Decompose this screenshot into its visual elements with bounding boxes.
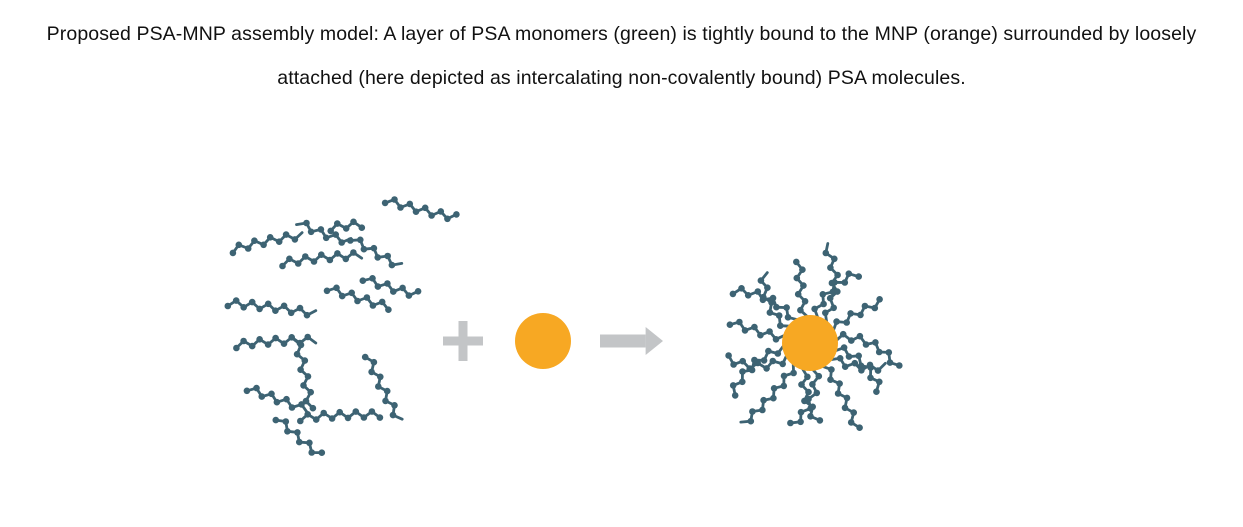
chain-node <box>391 402 398 409</box>
chain-node <box>364 294 371 301</box>
chain-node <box>415 288 422 295</box>
figure-caption: Proposed PSA-MNP assembly model: A layer… <box>34 12 1209 100</box>
chain-node <box>334 220 341 227</box>
chain-node <box>348 290 355 297</box>
chain-node <box>856 424 863 431</box>
chain-node <box>294 429 301 436</box>
chain-node <box>379 299 386 306</box>
chain-node <box>836 380 843 387</box>
psa-chain <box>382 196 460 222</box>
chain-node <box>407 201 414 208</box>
chain-node <box>730 291 737 298</box>
chain-node <box>323 235 330 242</box>
chain-node <box>274 399 281 406</box>
chain-node <box>333 285 340 292</box>
chain-node <box>857 333 864 340</box>
chain-node <box>777 322 784 329</box>
chain-node <box>785 314 792 321</box>
chain-node <box>296 439 303 446</box>
chain-node <box>295 260 302 267</box>
chain-node <box>773 304 780 311</box>
chain-node <box>828 366 835 373</box>
chain-node <box>732 392 739 399</box>
chain-node <box>798 409 805 416</box>
chain-node <box>833 318 840 325</box>
assembly-diagram-svg <box>0 160 1243 527</box>
chain-node <box>297 305 304 312</box>
chain-node <box>801 398 808 405</box>
psa-chain <box>293 339 316 412</box>
chain-node <box>384 253 391 260</box>
chain-node <box>751 357 758 364</box>
chain-node <box>382 200 389 207</box>
chain-bond-path <box>293 339 313 408</box>
chain-node <box>360 277 367 284</box>
chain-node <box>288 310 295 317</box>
chain-node <box>369 408 376 415</box>
magnetic-nanoparticle-circle <box>515 313 571 369</box>
chain-node <box>362 354 369 361</box>
chain-node <box>244 388 251 395</box>
chain-node <box>233 345 240 352</box>
chain-node <box>286 256 293 263</box>
chain-node <box>811 306 818 313</box>
psa-chain <box>244 385 308 413</box>
chain-node <box>795 291 802 298</box>
chain-node <box>230 250 237 257</box>
chain-node <box>384 388 391 395</box>
chain-node <box>240 338 247 345</box>
chain-node <box>283 396 290 403</box>
chain-node <box>307 389 314 396</box>
chain-node <box>350 249 357 256</box>
chain-node <box>887 359 894 366</box>
chain-node <box>846 353 853 360</box>
chain-node <box>281 340 288 347</box>
chain-node <box>310 405 317 412</box>
chain-node <box>896 362 903 369</box>
chain-node <box>305 373 312 380</box>
chain-node <box>371 245 378 252</box>
chain-node <box>797 419 804 426</box>
chain-node <box>384 280 391 287</box>
chain-node <box>831 256 838 263</box>
chain-node <box>804 374 811 381</box>
chain-node <box>406 292 413 299</box>
chain-node <box>390 288 397 295</box>
chain-node <box>872 339 879 346</box>
chain-node <box>359 224 366 231</box>
psa-chain <box>822 366 863 431</box>
chain-node <box>783 304 790 311</box>
chain-node <box>385 306 392 313</box>
chain-node <box>304 411 311 418</box>
chain-node <box>303 220 310 227</box>
chain-node <box>327 257 334 264</box>
arrow-shaft <box>600 335 646 348</box>
psa-chain <box>833 296 883 331</box>
chain-node <box>790 370 797 377</box>
chain-node <box>749 367 756 374</box>
chain-node <box>840 331 847 338</box>
chain-node <box>297 366 304 373</box>
chain-node <box>799 266 806 273</box>
chain-node <box>827 376 834 383</box>
chain-node <box>318 251 325 258</box>
chain-node <box>353 408 360 415</box>
plus-operator-icon <box>443 321 483 361</box>
chain-node <box>283 231 290 238</box>
chain-node <box>336 409 343 416</box>
chain-node <box>748 418 755 425</box>
chain-node <box>760 297 767 304</box>
psa-molecule-cluster <box>225 196 460 456</box>
chain-node <box>876 379 883 386</box>
chain-node <box>739 379 746 386</box>
chain-node <box>350 219 357 226</box>
chain-node <box>259 393 266 400</box>
chain-node <box>793 259 800 266</box>
psa-chain <box>730 285 798 321</box>
chain-node <box>727 321 734 328</box>
chain-node <box>766 328 773 335</box>
chain-node <box>281 303 288 310</box>
psa-chain <box>793 259 808 317</box>
chain-node <box>781 383 788 390</box>
chain-node <box>842 363 849 370</box>
chain-node <box>787 420 794 427</box>
chain-node <box>302 253 309 260</box>
chain-node <box>867 362 874 369</box>
chain-node <box>304 312 311 319</box>
chain-node <box>809 404 816 411</box>
psa-chain <box>225 297 316 318</box>
chain-node <box>444 216 451 223</box>
chain-node <box>289 404 296 411</box>
chain-node <box>267 234 274 241</box>
chain-node <box>272 307 279 314</box>
chain-node <box>377 414 384 421</box>
chain-node <box>844 395 851 402</box>
chain-node <box>361 414 368 421</box>
chain-node <box>354 298 361 305</box>
chain-node <box>370 302 377 309</box>
chain-node <box>779 361 786 368</box>
chain-node <box>272 335 279 342</box>
chain-node <box>389 262 396 269</box>
chain-node <box>862 303 869 310</box>
chain-node <box>809 381 816 388</box>
chain-node <box>256 306 263 313</box>
chain-node <box>324 288 331 295</box>
chain-node <box>842 405 849 412</box>
chain-node <box>245 245 252 252</box>
chain-node <box>369 275 376 282</box>
chain-node <box>745 292 752 299</box>
chain-node <box>343 225 350 232</box>
chain-node <box>736 319 743 326</box>
chain-node <box>822 310 829 317</box>
chain-node <box>759 407 766 414</box>
chain-node <box>265 301 272 308</box>
chain-node <box>308 449 315 456</box>
chain-node <box>738 285 745 292</box>
chain-node <box>725 352 732 359</box>
chain-node <box>755 288 762 295</box>
chain-node <box>805 389 812 396</box>
chain-node <box>294 351 301 358</box>
chain-node <box>855 273 862 280</box>
chain-node <box>835 390 842 397</box>
chain-node <box>347 237 354 244</box>
chain-node <box>773 336 780 343</box>
chain-node <box>730 382 737 389</box>
psa-chain <box>297 408 383 424</box>
chain-node <box>872 305 879 312</box>
chain-node <box>749 408 756 415</box>
chain-node <box>848 337 855 344</box>
chain-node <box>820 291 827 298</box>
chain-node <box>827 264 834 271</box>
psa-chain <box>741 363 797 424</box>
chain-node <box>319 449 326 456</box>
chain-node <box>857 312 864 319</box>
chain-node <box>298 342 305 349</box>
chain-node <box>820 301 827 308</box>
arrow-operator-icon <box>600 327 663 355</box>
chain-node <box>276 238 283 245</box>
chain-node <box>334 250 341 257</box>
chain-node <box>236 242 243 249</box>
chain-node <box>320 410 327 417</box>
chain-node <box>834 272 841 279</box>
chain-node <box>313 416 320 423</box>
chain-node <box>886 349 893 356</box>
chain-node <box>767 309 774 316</box>
chain-node <box>798 381 805 388</box>
chain-node <box>327 228 334 235</box>
chain-node <box>855 353 862 360</box>
chain-node <box>776 312 783 319</box>
psa-mnp-assembly <box>725 244 902 432</box>
chain-bond-path <box>350 240 402 265</box>
arrow-head <box>646 327 663 355</box>
chain-node <box>848 419 855 426</box>
chain-node <box>345 415 352 422</box>
chain-node <box>816 373 823 380</box>
chain-node <box>742 327 749 334</box>
chain-node <box>265 341 272 348</box>
assembly-diagram <box>0 160 1243 527</box>
psa-chain <box>230 231 303 256</box>
chain-node <box>775 350 782 357</box>
chain-node <box>284 428 291 435</box>
chain-node <box>240 304 247 311</box>
chain-node <box>771 385 778 392</box>
chain-bond-path <box>822 366 860 428</box>
psa-chain <box>327 219 365 235</box>
chain-node <box>842 279 849 286</box>
chain-node <box>867 375 874 382</box>
chain-node <box>770 358 777 365</box>
chain-node <box>268 391 275 398</box>
chain-node <box>283 418 290 425</box>
psa-chain <box>279 249 362 269</box>
chain-node <box>260 242 267 249</box>
chain-node <box>770 395 777 402</box>
chain-node <box>302 357 309 364</box>
chain-node <box>339 293 346 300</box>
chain-node <box>377 374 384 381</box>
chain-node <box>329 415 336 422</box>
chain-node <box>453 211 460 218</box>
chain-node <box>249 299 256 306</box>
chain-node <box>760 397 767 404</box>
chain-node <box>802 298 809 305</box>
chain-node <box>279 263 286 270</box>
chain-node <box>428 212 435 219</box>
psa-chain <box>233 334 316 352</box>
chain-node <box>834 288 841 295</box>
chain-node <box>739 368 746 375</box>
chain-node <box>292 236 299 243</box>
chain-node <box>800 282 807 289</box>
chain-node <box>374 254 381 261</box>
chain-node <box>817 417 824 424</box>
chain-node <box>843 319 850 326</box>
chain-node <box>225 303 232 310</box>
chain-node <box>304 334 311 341</box>
chain-node <box>300 382 307 389</box>
chain-node <box>382 398 389 405</box>
chain-node <box>827 295 834 302</box>
chain-node <box>438 208 445 215</box>
chain-node <box>297 418 304 425</box>
figure-page: Proposed PSA-MNP assembly model: A layer… <box>0 0 1243 527</box>
chain-node <box>814 390 821 397</box>
chain-node <box>763 365 770 372</box>
chain-node <box>413 208 420 215</box>
chain-node <box>847 310 854 317</box>
psa-chain <box>727 319 785 343</box>
chain-node <box>399 285 406 292</box>
chain-node <box>757 332 764 339</box>
chain-node <box>852 360 859 367</box>
chain-node <box>361 246 368 253</box>
chain-node <box>306 440 313 447</box>
chain-node <box>829 280 836 287</box>
chain-node <box>876 296 883 303</box>
chain-node <box>251 237 258 244</box>
chain-node <box>876 349 883 356</box>
chain-node <box>318 226 325 233</box>
chain-node <box>758 277 765 284</box>
chain-bond-path <box>276 420 322 453</box>
chain-node <box>837 355 844 362</box>
psa-chain <box>297 220 352 246</box>
chain-node <box>253 385 260 392</box>
chain-bond-path <box>833 299 879 331</box>
chain-node <box>233 297 240 304</box>
chain-node <box>875 367 882 374</box>
chain-node <box>308 229 315 236</box>
chain-node <box>371 359 378 366</box>
plus-vertical-bar <box>459 321 468 361</box>
chain-node <box>375 283 382 290</box>
chain-node <box>807 413 814 420</box>
chain-node <box>368 369 375 376</box>
chain-node <box>873 388 880 395</box>
chain-node <box>739 358 746 365</box>
chain-node <box>391 196 398 203</box>
assembly-core-nanoparticle <box>782 315 838 371</box>
chain-node <box>357 237 364 244</box>
chain-node <box>764 284 771 291</box>
chain-node <box>765 348 772 355</box>
chain-node <box>830 305 837 312</box>
psa-chain <box>362 354 402 419</box>
chain-node <box>303 398 310 405</box>
chain-node <box>846 270 853 277</box>
chain-node <box>730 361 737 368</box>
chain-node <box>751 324 758 331</box>
chain-node <box>823 250 830 257</box>
chain-node <box>797 307 804 314</box>
chain-node <box>858 367 865 374</box>
chain-node <box>375 383 382 390</box>
psa-chain <box>324 285 392 314</box>
chain-node <box>841 344 848 351</box>
chain-node <box>761 357 768 364</box>
chain-node <box>770 295 777 302</box>
chain-node <box>343 256 350 263</box>
chain-node <box>249 343 256 350</box>
chain-node <box>273 417 280 424</box>
chain-node <box>390 412 397 419</box>
chain-node <box>338 239 345 246</box>
chain-node <box>781 373 788 380</box>
chain-node <box>422 205 429 212</box>
chain-node <box>397 204 404 211</box>
chain-node <box>863 341 870 348</box>
chain-node <box>794 275 801 282</box>
chain-node <box>311 258 318 265</box>
chain-node <box>850 409 857 416</box>
chain-node <box>256 336 263 343</box>
